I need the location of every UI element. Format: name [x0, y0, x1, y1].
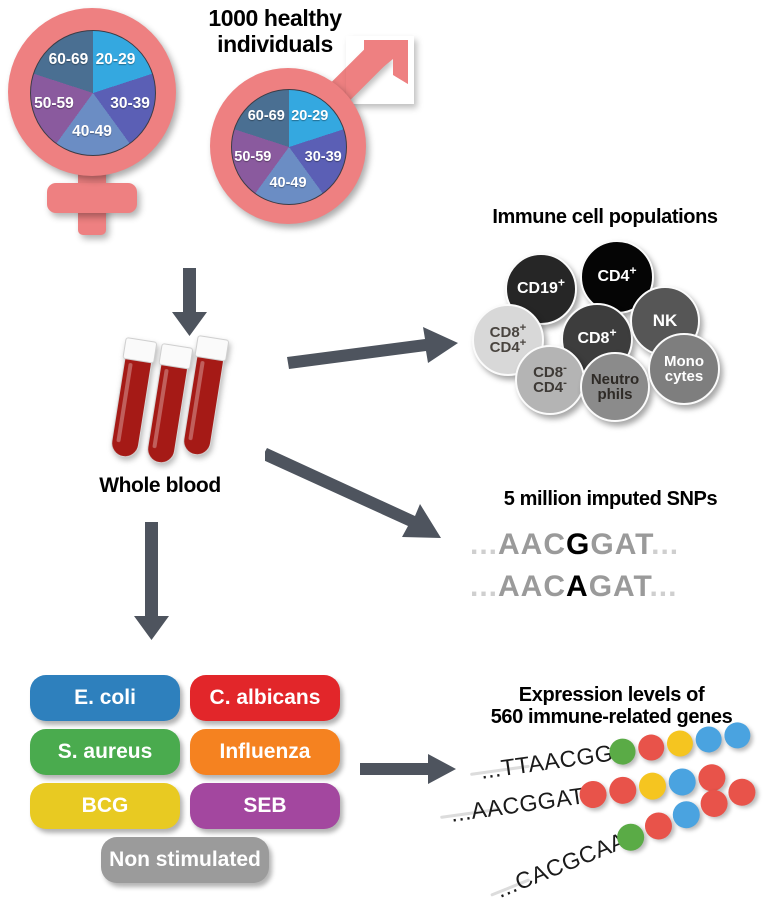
immune-cell-label: Neutrophils	[591, 372, 639, 403]
immune-cell-cluster: CD19+CD4+CD8+CD4+CD8+NKCD8-CD4-Neutrophi…	[0, 0, 771, 430]
stimulus-label: S. aureus	[58, 740, 153, 764]
snp-prefix-ellipsis: ...	[470, 528, 498, 561]
snp-section-title: 5 million imputed SNPs	[450, 488, 771, 510]
snp-suffix-ellipsis: ...	[651, 528, 679, 561]
nucleotide-bead	[636, 733, 665, 762]
stimulus-label: E. coli	[74, 686, 136, 710]
stimulus-s-aureus[interactable]: S. aureus	[30, 729, 180, 775]
nucleotide-bead	[724, 774, 759, 809]
immune-cell-label: Monocytes	[664, 354, 704, 385]
snp-after-bases: GAT	[589, 570, 650, 603]
immune-cell-label: CD4+	[597, 269, 636, 285]
snp-before-bases: AAC	[498, 570, 566, 603]
immune-cell-neutrophils: Neutrophils	[580, 352, 650, 422]
immune-cell-label: CD8+CD4+	[490, 325, 527, 356]
stimulus-label: SEB	[243, 794, 286, 818]
immune-cell-label: NK	[653, 312, 678, 329]
snp-before-bases: AAC	[498, 528, 566, 561]
stimulus-label: C. albicans	[210, 686, 321, 710]
arrow-blood-to-snps	[265, 438, 455, 548]
stimulus-seb[interactable]: SEB	[190, 783, 340, 829]
immune-cell-monocytes: Monocytes	[648, 333, 720, 405]
stimuli-grid: E. coliC. albicansS. aureusInfluenzaBCGS…	[30, 675, 350, 895]
nucleotide-bead	[668, 797, 703, 832]
snp-variant-base: A	[566, 570, 589, 603]
snp-prefix-ellipsis: ...	[470, 570, 498, 603]
nucleotide-bead	[667, 766, 697, 796]
immune-cell-cd8cd4: CD8-CD4-	[515, 345, 585, 415]
stimulus-non-stimulated[interactable]: Non stimulated	[101, 837, 269, 883]
stimulus-c-albicans[interactable]: C. albicans	[190, 675, 340, 721]
snp-variant-base: G	[566, 528, 590, 561]
arrow-blood-to-stimuli	[130, 522, 174, 642]
stimulus-influenza[interactable]: Influenza	[190, 729, 340, 775]
strand-sequence: ...CACGCAA	[492, 826, 630, 903]
stimulus-label: Non stimulated	[109, 848, 261, 872]
nucleotide-bead	[694, 725, 723, 754]
snp-sequences: ...AACGGAT......AACAGAT...	[470, 528, 750, 618]
stimulus-bcg[interactable]: BCG	[30, 783, 180, 829]
stimulus-label: BCG	[82, 794, 129, 818]
strand-sequence: ...TTAACGG	[479, 740, 615, 785]
snp-after-bases: GAT	[590, 528, 651, 561]
snp-suffix-ellipsis: ...	[649, 570, 677, 603]
snp-sequence-row: ...AACAGAT...	[470, 570, 677, 604]
expression-title-line1: Expression levels of	[452, 684, 771, 706]
immune-cell-label: CD8-CD4-	[533, 365, 567, 396]
immune-cell-label: CD19+	[517, 281, 565, 297]
whole-blood-label: Whole blood	[60, 474, 260, 498]
nucleotide-bead	[640, 808, 675, 843]
snp-sequence-row: ...AACGGAT...	[470, 528, 679, 562]
nucleotide-bead	[665, 729, 694, 758]
nucleotide-bead	[607, 775, 637, 805]
nucleotide-bead	[637, 770, 667, 800]
stimulus-e-coli[interactable]: E. coli	[30, 675, 180, 721]
strand-sequence: ...AACGGAT	[449, 782, 586, 828]
nucleotide-bead	[722, 721, 751, 750]
expression-section-title: Expression levels of 560 immune-related …	[452, 684, 771, 729]
stimulus-label: Influenza	[219, 740, 310, 764]
gene-strands: ...TTAACGG...AACGGAT...CACGCAA	[440, 730, 771, 920]
immune-cell-label: CD8+	[577, 331, 616, 347]
